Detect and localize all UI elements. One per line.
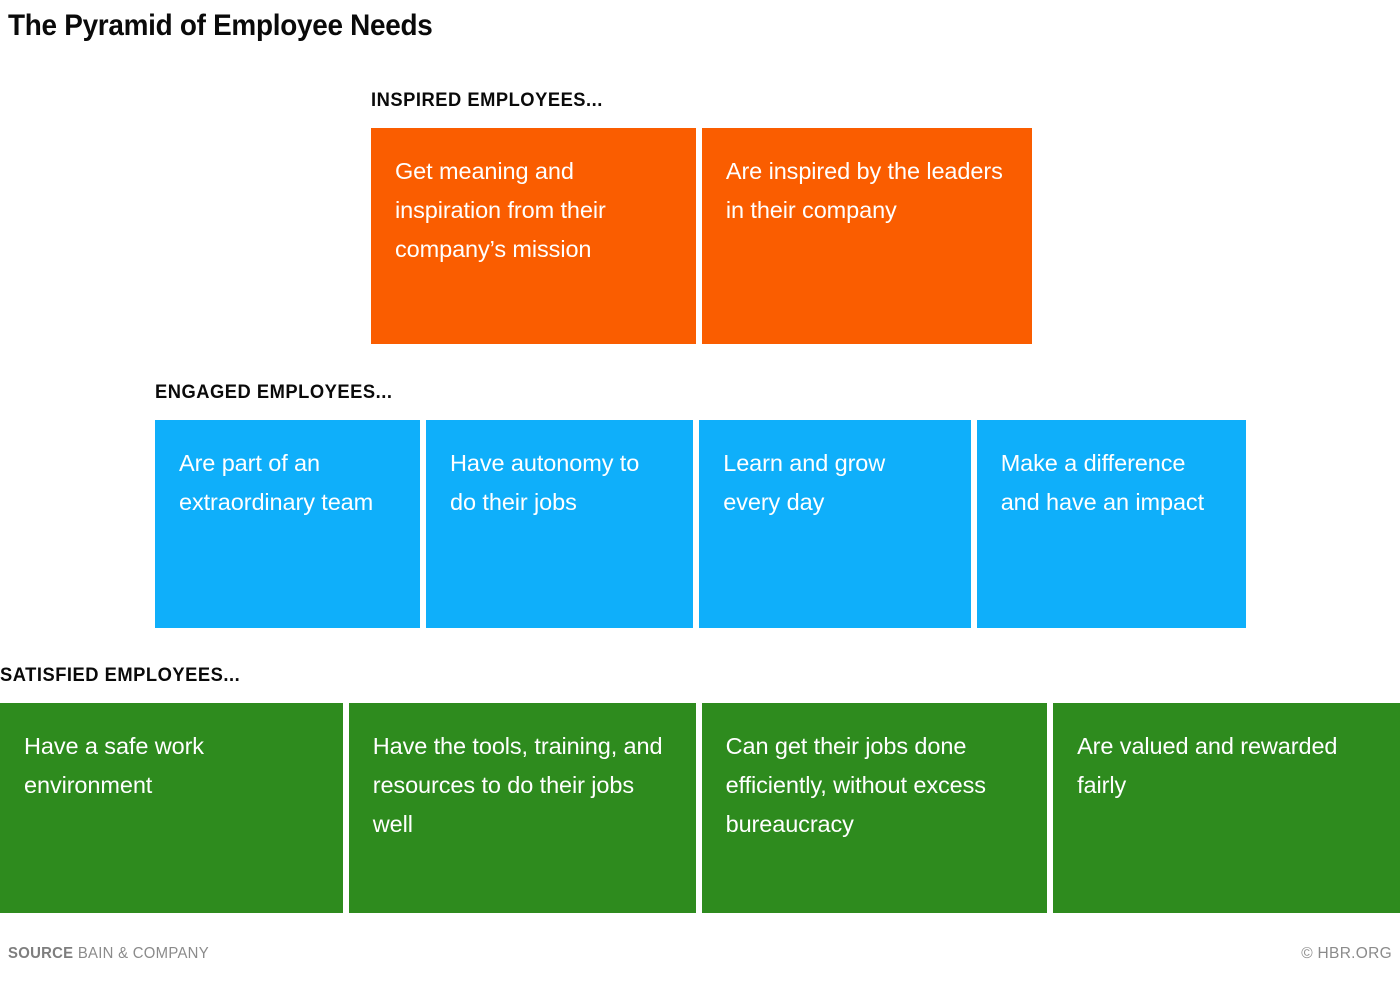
tier-box-text: Are inspired by the leaders in their com…	[726, 158, 1003, 223]
tier-label-engaged: ENGAGED EMPLOYEES...	[155, 381, 392, 404]
tier-box-text: Learn and grow every day	[723, 450, 885, 515]
tier-box-engaged-1: Are part of an extraordinary team	[155, 420, 420, 628]
tier-label-satisfied: SATISFIED EMPLOYEES...	[0, 664, 240, 687]
tier-label-inspired: INSPIRED EMPLOYEES...	[371, 89, 603, 112]
tier-box-inspired-2: Are inspired by the leaders in their com…	[702, 128, 1032, 344]
page-title: The Pyramid of Employee Needs	[8, 6, 433, 46]
tier-box-text: Make a difference and have an impact	[1001, 450, 1204, 515]
footer-credit: © HBR.ORG	[1301, 945, 1392, 963]
tier-box-satisfied-2: Have the tools, training, and resources …	[349, 703, 696, 913]
tier-box-text: Have a safe work environment	[24, 733, 204, 798]
tier-box-text: Have autonomy to do their jobs	[450, 450, 639, 515]
tier-row-engaged: Are part of an extraordinary team Have a…	[155, 420, 1246, 628]
tier-row-satisfied: Have a safe work environment Have the to…	[0, 703, 1400, 913]
footer: SOURCE BAIN & COMPANY © HBR.ORG	[0, 945, 1400, 985]
tier-box-text: Are valued and rewarded fairly	[1077, 733, 1337, 798]
footer-source-name: BAIN & COMPANY	[78, 945, 209, 962]
tier-box-text: Are part of an extraordinary team	[179, 450, 373, 515]
tier-box-engaged-3: Learn and grow every day	[699, 420, 970, 628]
tier-box-text: Get meaning and inspiration from their c…	[395, 158, 606, 262]
footer-source-label: SOURCE	[8, 945, 73, 962]
footer-source: SOURCE BAIN & COMPANY	[8, 945, 209, 963]
tier-box-engaged-2: Have autonomy to do their jobs	[426, 420, 693, 628]
tier-box-satisfied-4: Are valued and rewarded fairly	[1053, 703, 1400, 913]
tier-box-satisfied-3: Can get their jobs done efficiently, wit…	[702, 703, 1048, 913]
tier-box-inspired-1: Get meaning and inspiration from their c…	[371, 128, 696, 344]
tier-box-engaged-4: Make a difference and have an impact	[977, 420, 1246, 628]
tier-row-inspired: Get meaning and inspiration from their c…	[371, 128, 1032, 344]
tier-box-text: Have the tools, training, and resources …	[373, 733, 663, 837]
tier-box-satisfied-1: Have a safe work environment	[0, 703, 343, 913]
tier-box-text: Can get their jobs done efficiently, wit…	[726, 733, 986, 837]
